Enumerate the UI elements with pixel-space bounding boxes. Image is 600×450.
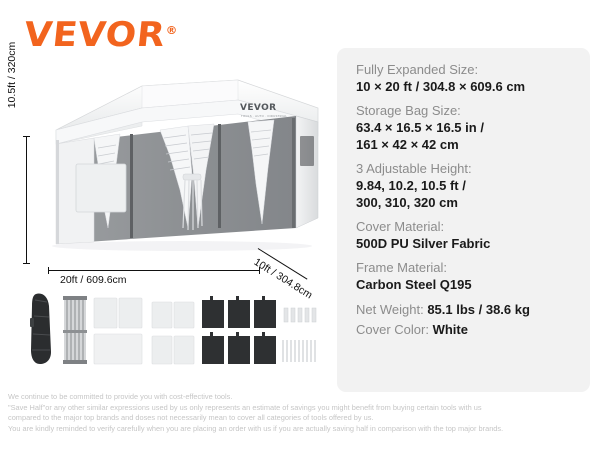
spec-value: 85.1 lbs / 38.6 kg xyxy=(427,302,530,317)
registered-trademark-icon: ® xyxy=(166,25,178,36)
spec-value: 63.4 × 16.5 × 16.5 in / xyxy=(356,119,590,136)
disclaimer-line-1: We continue to be committed to provide y… xyxy=(8,392,594,403)
product-spec-image: VEVOR® xyxy=(0,0,600,450)
spec-label: Fully Expanded Size: xyxy=(356,61,590,78)
spec-label: Cover Material: xyxy=(356,218,590,235)
tent-svg: VEVOR TOOLS · AUTO · INDUSTRIAL xyxy=(42,78,332,278)
sidewall-panels-icon xyxy=(94,298,194,364)
sandbag-weights-icon xyxy=(202,296,276,364)
disclaimer-line-2: "Save Half"or any other similar expressi… xyxy=(8,403,594,414)
width-dimension-label: 20ft / 609.6cm xyxy=(60,274,127,286)
height-dimension-label: 10.5ft / 320cm xyxy=(6,20,18,130)
spec-label: Cover Color: xyxy=(356,322,429,337)
carry-bag-icon xyxy=(30,294,51,365)
steel-frame-icon xyxy=(63,296,87,364)
product-illustration: VEVOR TOOLS · AUTO · INDUSTRIAL 10.5ft /… xyxy=(0,58,338,383)
spec-label: Net Weight: xyxy=(356,302,424,317)
disclaimer-line-3: compared to the major top brands and dos… xyxy=(8,413,594,424)
height-dimension-line xyxy=(26,136,27,264)
stakes-icon xyxy=(283,308,316,362)
svg-text:VEVOR: VEVOR xyxy=(240,103,277,113)
spec-label: Storage Bag Size: xyxy=(356,102,590,119)
spec-value: 10 × 20 ft / 304.8 × 609.6 cm xyxy=(356,78,590,95)
spec-row-adjustable-height: 3 Adjustable Height: 9.84, 10.2, 10.5 ft… xyxy=(356,160,590,211)
spec-value-cont: 161 × 42 × 42 cm xyxy=(356,136,590,153)
vevor-logo-text: VEVOR xyxy=(22,15,167,55)
spec-row-cover-color: Cover Color: White xyxy=(356,320,590,340)
spec-row-cover-material: Cover Material: 500D PU Silver Fabric xyxy=(356,218,590,252)
spec-value: 9.84, 10.2, 10.5 ft / xyxy=(356,177,590,194)
spec-value-cont: 300, 310, 320 cm xyxy=(356,194,590,211)
package-contents-illustration xyxy=(24,290,324,375)
canopy-tent-image: VEVOR TOOLS · AUTO · INDUSTRIAL xyxy=(42,78,332,258)
spec-value: Carbon Steel Q195 xyxy=(356,276,590,293)
svg-text:TOOLS · AUTO · INDUSTRIAL: TOOLS · AUTO · INDUSTRIAL xyxy=(241,114,287,118)
spec-row-frame-material: Frame Material: Carbon Steel Q195 xyxy=(356,259,590,293)
specifications-panel: Fully Expanded Size: 10 × 20 ft / 304.8 … xyxy=(337,48,590,392)
vevor-logo: VEVOR® xyxy=(22,18,178,52)
disclaimer-line-4: You are kindly reminded to verify carefu… xyxy=(8,424,594,435)
spec-row-storage-bag-size: Storage Bag Size: 63.4 × 16.5 × 16.5 in … xyxy=(356,102,590,153)
disclaimer-footer: We continue to be committed to provide y… xyxy=(8,392,594,434)
spec-value: White xyxy=(433,322,468,337)
accessories-svg xyxy=(24,290,324,375)
spec-label: Frame Material: xyxy=(356,259,590,276)
spec-row-expanded-size: Fully Expanded Size: 10 × 20 ft / 304.8 … xyxy=(356,61,590,95)
spec-label: 3 Adjustable Height: xyxy=(356,160,590,177)
spec-value: 500D PU Silver Fabric xyxy=(356,235,590,252)
width-dimension-line xyxy=(48,270,260,271)
spec-row-net-weight: Net Weight: 85.1 lbs / 38.6 kg xyxy=(356,300,590,320)
